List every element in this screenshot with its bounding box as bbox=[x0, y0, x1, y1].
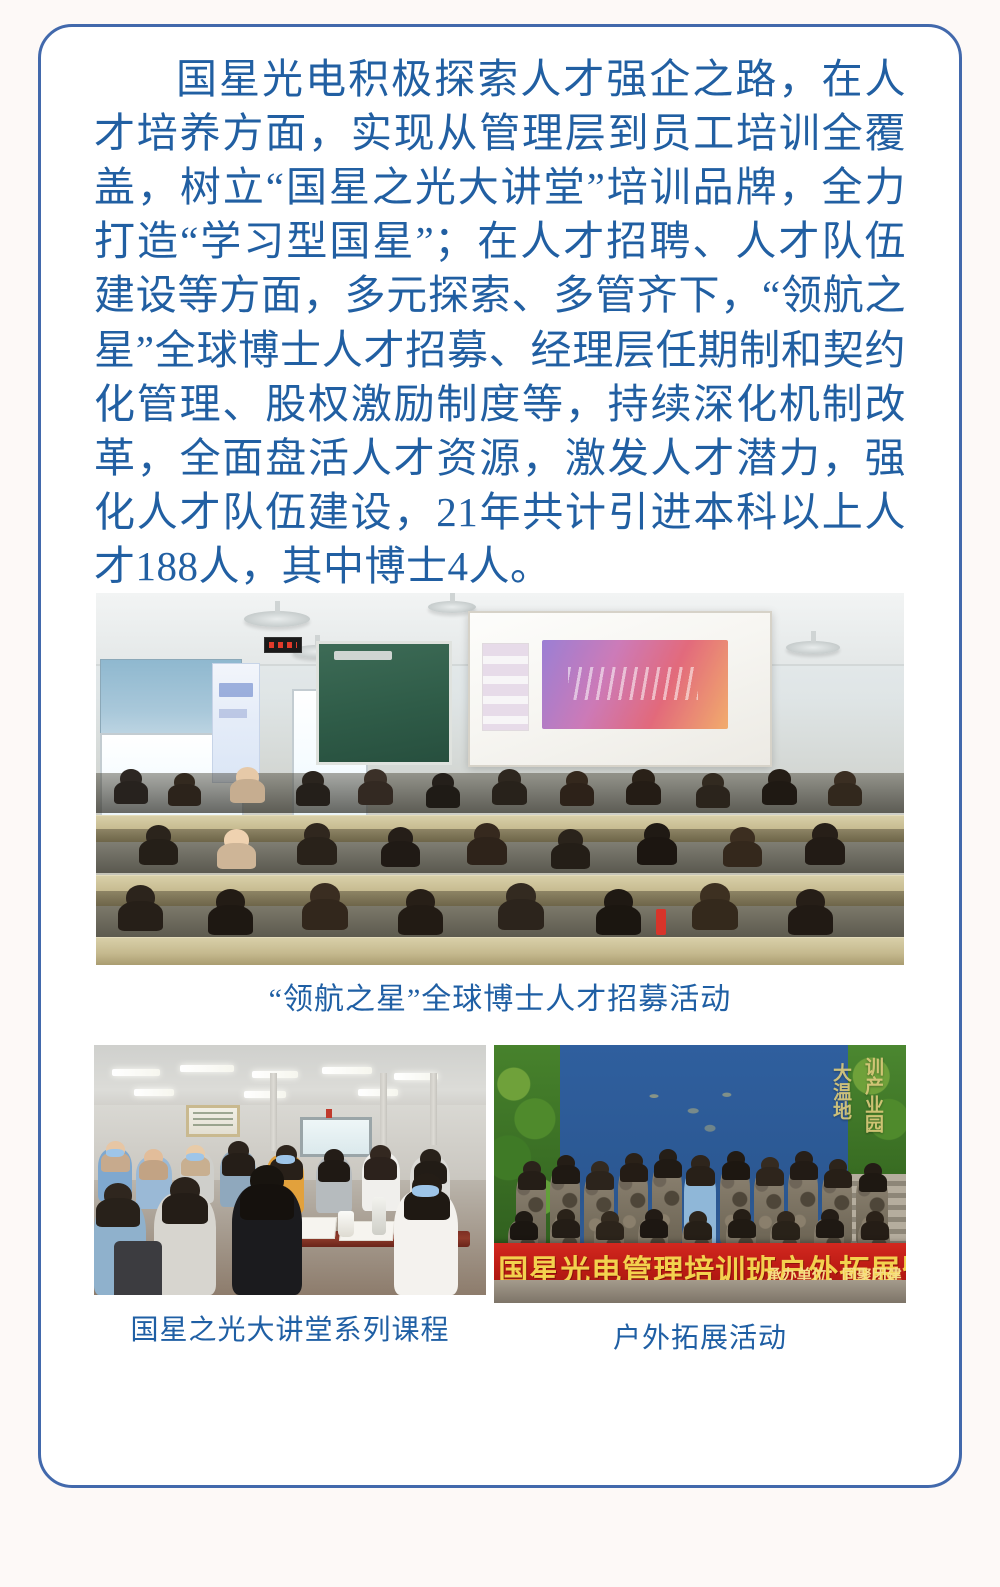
person-head bbox=[523, 1161, 541, 1177]
person-head bbox=[829, 1159, 847, 1175]
pillar bbox=[380, 1073, 387, 1145]
person-head bbox=[625, 1153, 643, 1169]
ceiling-light bbox=[112, 1069, 160, 1076]
projector bbox=[334, 651, 392, 660]
audience-head bbox=[702, 773, 724, 792]
figure-bottom-left: 国星之光大讲堂系列课程 bbox=[94, 1045, 486, 1350]
audience-head bbox=[388, 827, 413, 849]
article-body-text: 国星光电积极探索人才强企之路，在人才培养方面，实现从管理层到员工培训全覆盖，树立… bbox=[94, 52, 906, 593]
desk-row bbox=[96, 937, 904, 965]
face-mask bbox=[412, 1185, 439, 1197]
wall-calligraphy-panel bbox=[186, 1105, 240, 1137]
audience-head bbox=[498, 769, 521, 789]
person-head bbox=[821, 1209, 839, 1225]
person-head bbox=[777, 1211, 795, 1227]
audience-head bbox=[566, 771, 588, 790]
recruitment-poster-banner bbox=[212, 663, 260, 783]
photo-lecture-hall bbox=[96, 593, 904, 965]
person-head bbox=[795, 1151, 813, 1167]
person-head bbox=[727, 1151, 745, 1167]
audience-head bbox=[224, 829, 249, 851]
wall-marker bbox=[326, 1109, 332, 1118]
ceiling-light bbox=[322, 1067, 372, 1074]
audience-head bbox=[236, 767, 259, 787]
person-head bbox=[324, 1149, 344, 1167]
water-bottle bbox=[372, 1197, 386, 1235]
audience-head bbox=[632, 769, 655, 789]
person-head bbox=[370, 1145, 391, 1164]
audience-head bbox=[146, 825, 171, 847]
digital-clock bbox=[264, 637, 302, 653]
screen-sidebar bbox=[482, 643, 529, 730]
audience-head bbox=[120, 769, 142, 788]
wall-graffiti bbox=[626, 1076, 766, 1143]
person-head bbox=[761, 1157, 779, 1173]
audience-head bbox=[700, 883, 730, 909]
figure-row-bottom: 国星之光大讲堂系列课程 大温地 训产业园 bbox=[94, 1045, 906, 1358]
audience-head bbox=[812, 823, 838, 846]
face-mask bbox=[186, 1153, 204, 1161]
person-head bbox=[250, 1165, 284, 1195]
person-head bbox=[659, 1149, 677, 1165]
person-head bbox=[228, 1141, 249, 1160]
person-head bbox=[144, 1149, 163, 1166]
screen-slide-art bbox=[542, 640, 728, 728]
paper-cup bbox=[338, 1211, 354, 1237]
audience-head bbox=[364, 769, 387, 789]
audience-head bbox=[174, 773, 195, 791]
audience-head bbox=[406, 889, 435, 914]
ceiling-fan-icon bbox=[244, 611, 310, 627]
ceiling-light bbox=[244, 1091, 286, 1098]
chair bbox=[114, 1241, 162, 1295]
photo-outdoor-group: 大温地 训产业园 bbox=[494, 1045, 906, 1303]
face-mask bbox=[106, 1149, 124, 1157]
person-head bbox=[591, 1161, 609, 1177]
audience-head bbox=[730, 827, 755, 849]
audience-head bbox=[302, 771, 324, 790]
audience-head bbox=[834, 771, 856, 790]
projection-screen bbox=[468, 611, 772, 767]
figure-bottom-right: 大温地 训产业园 bbox=[494, 1045, 906, 1358]
photo-workshop bbox=[94, 1045, 486, 1295]
figure-caption-bottom-right: 户外拓展活动 bbox=[494, 1319, 906, 1358]
pillar bbox=[430, 1073, 437, 1145]
audience-head bbox=[768, 769, 791, 789]
audience-head bbox=[644, 823, 670, 846]
person-head bbox=[689, 1211, 707, 1227]
audience-head bbox=[604, 889, 633, 914]
person-head bbox=[866, 1211, 884, 1227]
audience-head bbox=[474, 823, 500, 846]
person-head bbox=[864, 1163, 882, 1179]
person-head bbox=[170, 1177, 200, 1203]
water-bottle bbox=[656, 909, 666, 935]
wall-text-right: 训产业园 bbox=[862, 1057, 882, 1133]
ceiling-light bbox=[180, 1065, 234, 1072]
audience-head bbox=[310, 883, 340, 909]
ceiling-light bbox=[358, 1089, 398, 1096]
wall-text-left: 大温地 bbox=[830, 1063, 850, 1120]
audience-head bbox=[216, 889, 245, 914]
audience-head bbox=[432, 773, 454, 792]
person-head bbox=[733, 1209, 751, 1225]
person-head bbox=[420, 1149, 441, 1168]
audience-head bbox=[506, 883, 536, 909]
person-head bbox=[557, 1155, 575, 1171]
audience-head bbox=[558, 829, 583, 851]
person-head bbox=[557, 1209, 575, 1225]
ceiling-fan-icon bbox=[786, 641, 840, 654]
person-head bbox=[104, 1183, 132, 1207]
person-head bbox=[601, 1211, 619, 1227]
card-content: 国星光电积极探索人才强企之路，在人才培养方面，实现从管理层到员工培训全覆盖，树立… bbox=[38, 24, 962, 1488]
person-head bbox=[691, 1155, 710, 1172]
face-mask bbox=[276, 1155, 295, 1164]
person-head bbox=[645, 1209, 663, 1225]
ceiling-light bbox=[134, 1089, 174, 1096]
ground bbox=[494, 1280, 906, 1303]
audience-head bbox=[304, 823, 330, 846]
person-head bbox=[515, 1211, 533, 1227]
pillar bbox=[270, 1073, 277, 1151]
poster-page: 国星光电积极探索人才强企之路，在人才培养方面，实现从管理层到员工培训全覆盖，树立… bbox=[0, 0, 1000, 1587]
audience-head bbox=[796, 889, 825, 914]
audience-head bbox=[126, 885, 155, 910]
figure-caption-hero: “领航之星”全球博士人才招募活动 bbox=[96, 979, 904, 1021]
figure-caption-bottom-left: 国星之光大讲堂系列课程 bbox=[94, 1311, 486, 1350]
figure-hero: “领航之星”全球博士人才招募活动 bbox=[96, 593, 904, 1021]
